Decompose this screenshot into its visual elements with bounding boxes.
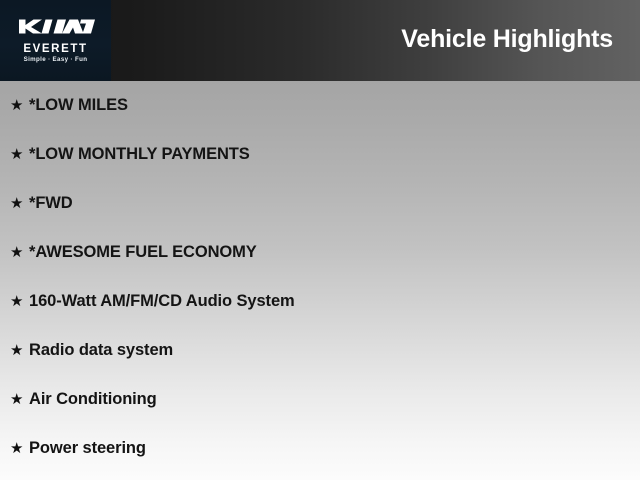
kia-logo-icon <box>18 14 96 39</box>
highlight-label: *LOW MONTHLY PAYMENTS <box>29 130 250 179</box>
list-item: ★*LOW MILES <box>0 81 640 130</box>
list-item: ★*AWESOME FUEL ECONOMY <box>0 228 640 277</box>
highlight-label: Radio data system <box>29 326 173 375</box>
highlights-panel: ★*LOW MILES★*LOW MONTHLY PAYMENTS★*FWD★*… <box>0 81 640 480</box>
star-icon: ★ <box>10 130 29 179</box>
vehicle-highlights-list: ★*LOW MILES★*LOW MONTHLY PAYMENTS★*FWD★*… <box>0 81 640 473</box>
dealer-logo-panel: EVERETT Simple · Easy · Fun <box>0 0 111 81</box>
star-icon: ★ <box>10 277 29 326</box>
list-item: ★160-Watt AM/FM/CD Audio System <box>0 277 640 326</box>
star-icon: ★ <box>10 424 29 473</box>
star-icon: ★ <box>10 375 29 424</box>
dealer-tagline: Simple · Easy · Fun <box>0 56 111 64</box>
highlight-label: Power steering <box>29 424 146 473</box>
highlight-label: *AWESOME FUEL ECONOMY <box>29 228 257 277</box>
highlight-label: Air Conditioning <box>29 375 157 424</box>
list-item: ★*FWD <box>0 179 640 228</box>
vehicle-highlights-banner: EVERETT Simple · Easy · Fun Vehicle High… <box>0 0 640 480</box>
page-title: Vehicle Highlights <box>401 24 613 54</box>
highlight-label: *LOW MILES <box>29 81 128 130</box>
highlight-label: *FWD <box>29 179 73 228</box>
highlight-label: 160-Watt AM/FM/CD Audio System <box>29 277 295 326</box>
star-icon: ★ <box>10 326 29 375</box>
dealer-name: EVERETT <box>0 43 111 55</box>
list-item: ★*LOW MONTHLY PAYMENTS <box>0 130 640 179</box>
list-item: ★Radio data system <box>0 326 640 375</box>
star-icon: ★ <box>10 228 29 277</box>
list-item: ★Air Conditioning <box>0 375 640 424</box>
star-icon: ★ <box>10 81 29 130</box>
list-item: ★Power steering <box>0 424 640 473</box>
banner-header: EVERETT Simple · Easy · Fun Vehicle High… <box>0 0 640 81</box>
star-icon: ★ <box>10 179 29 228</box>
